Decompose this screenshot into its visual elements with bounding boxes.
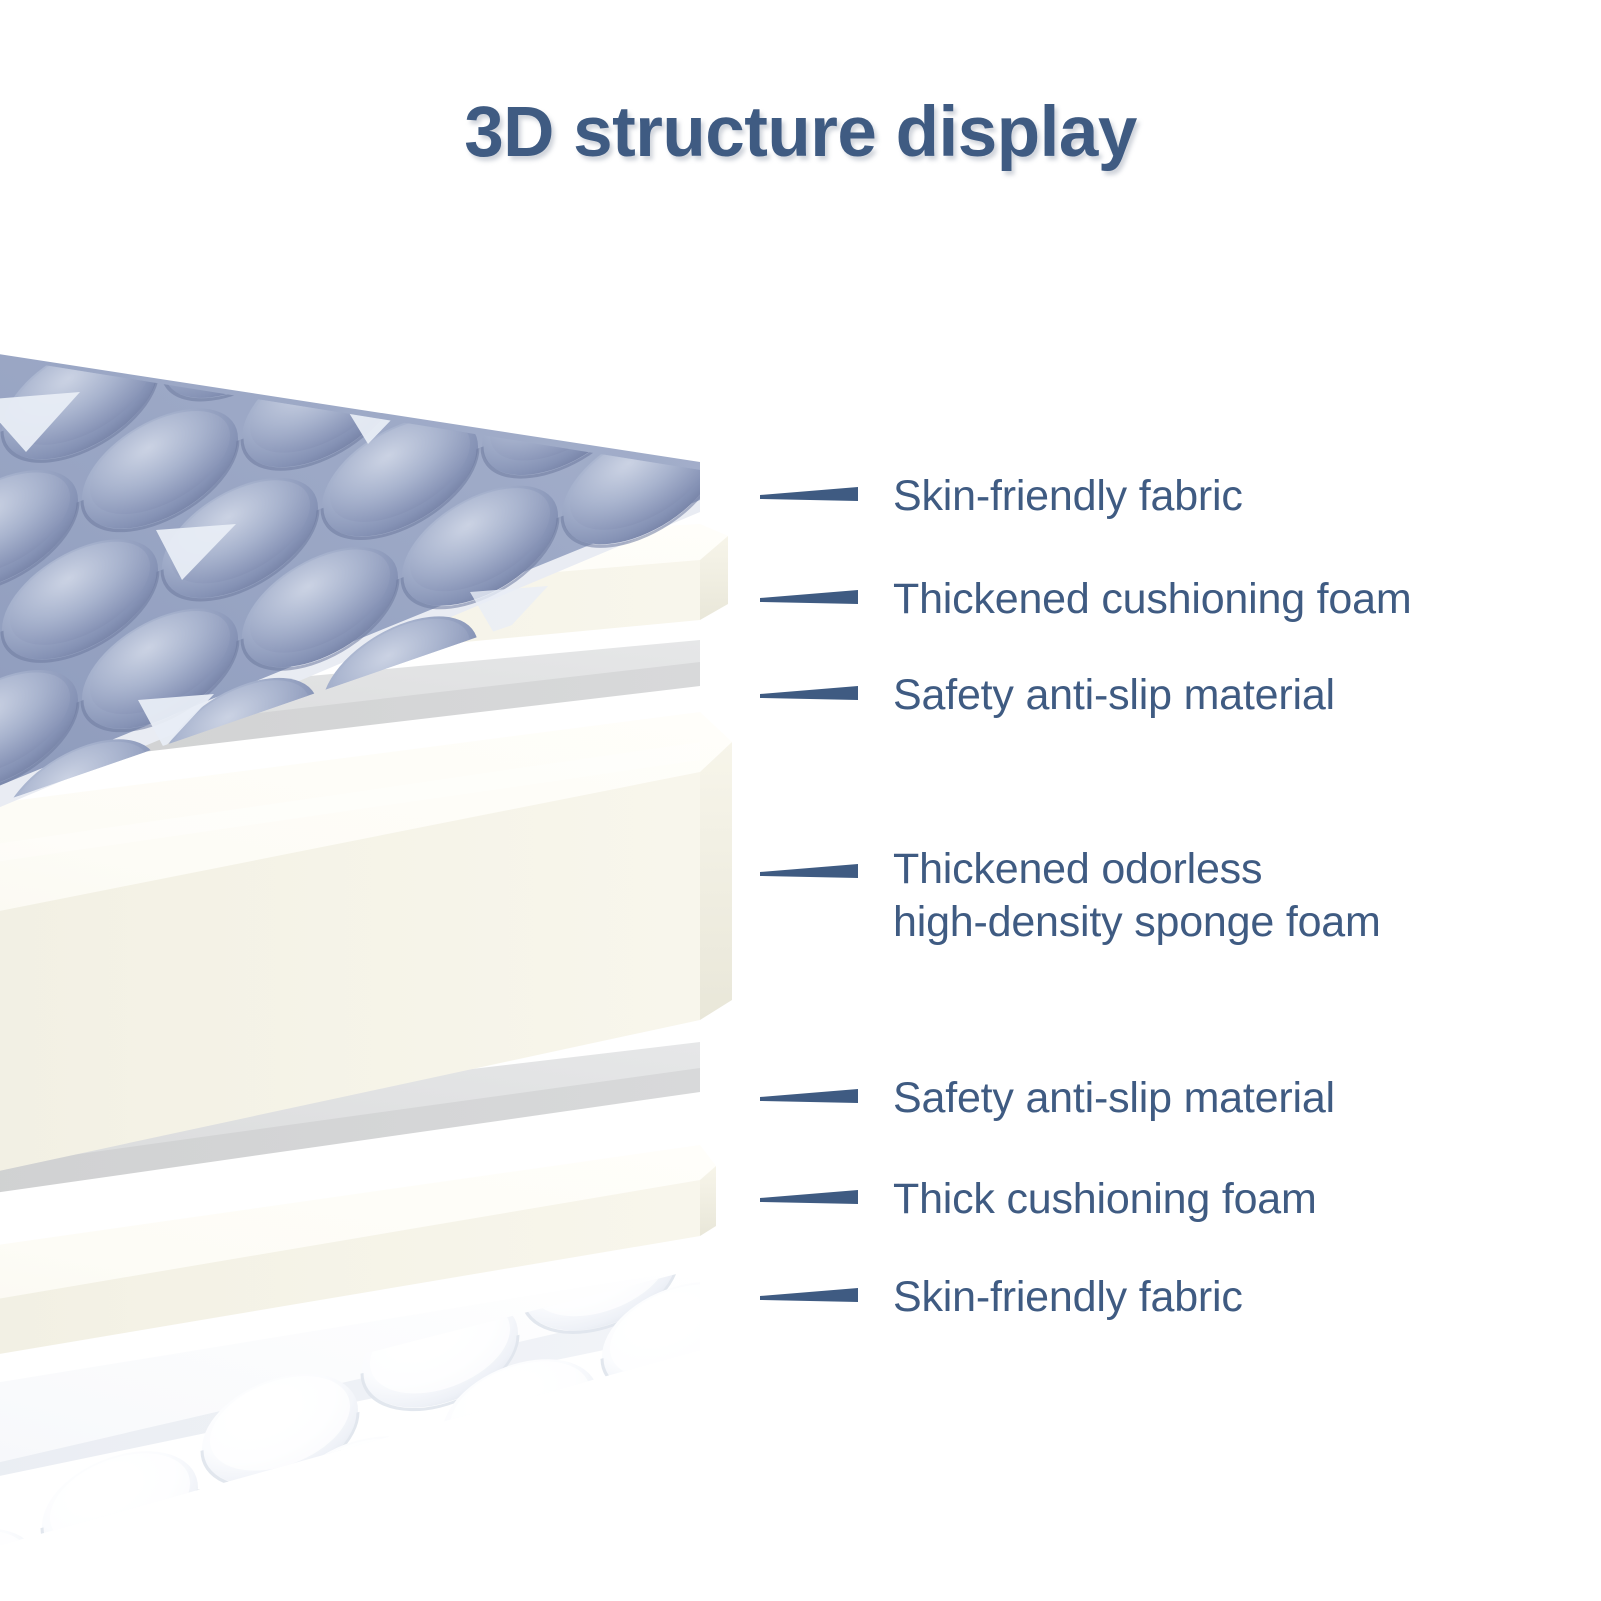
- leader-line-6: [760, 1190, 858, 1204]
- exploded-layer-stack: [0, 0, 1601, 1601]
- leader-lines: [760, 487, 858, 1302]
- infographic-canvas: 3D structure display: [0, 0, 1601, 1601]
- callout-label-skin-friendly-fabric-bottom: Skin-friendly fabric: [893, 1271, 1243, 1324]
- callout-label-high-density-sponge-foam: Thickened odorless high-density sponge f…: [893, 843, 1533, 949]
- callout-label-sponge-line2: high-density sponge foam: [893, 896, 1533, 949]
- leader-line-2: [760, 590, 858, 604]
- callout-label-anti-slip-material-upper: Safety anti-slip material: [893, 669, 1335, 722]
- leader-line-1: [760, 487, 858, 501]
- leader-line-7: [760, 1288, 858, 1302]
- callout-label-anti-slip-material-lower: Safety anti-slip material: [893, 1072, 1335, 1125]
- callout-label-skin-friendly-fabric-top: Skin-friendly fabric: [893, 470, 1243, 523]
- callout-label-thickened-cushioning-foam: Thickened cushioning foam: [893, 573, 1411, 626]
- leader-line-3: [760, 686, 858, 700]
- callout-label-thick-cushioning-foam: Thick cushioning foam: [893, 1173, 1317, 1226]
- leader-line-4: [760, 864, 858, 878]
- callout-label-sponge-line1: Thickened odorless: [893, 845, 1262, 893]
- leader-line-5: [760, 1089, 858, 1103]
